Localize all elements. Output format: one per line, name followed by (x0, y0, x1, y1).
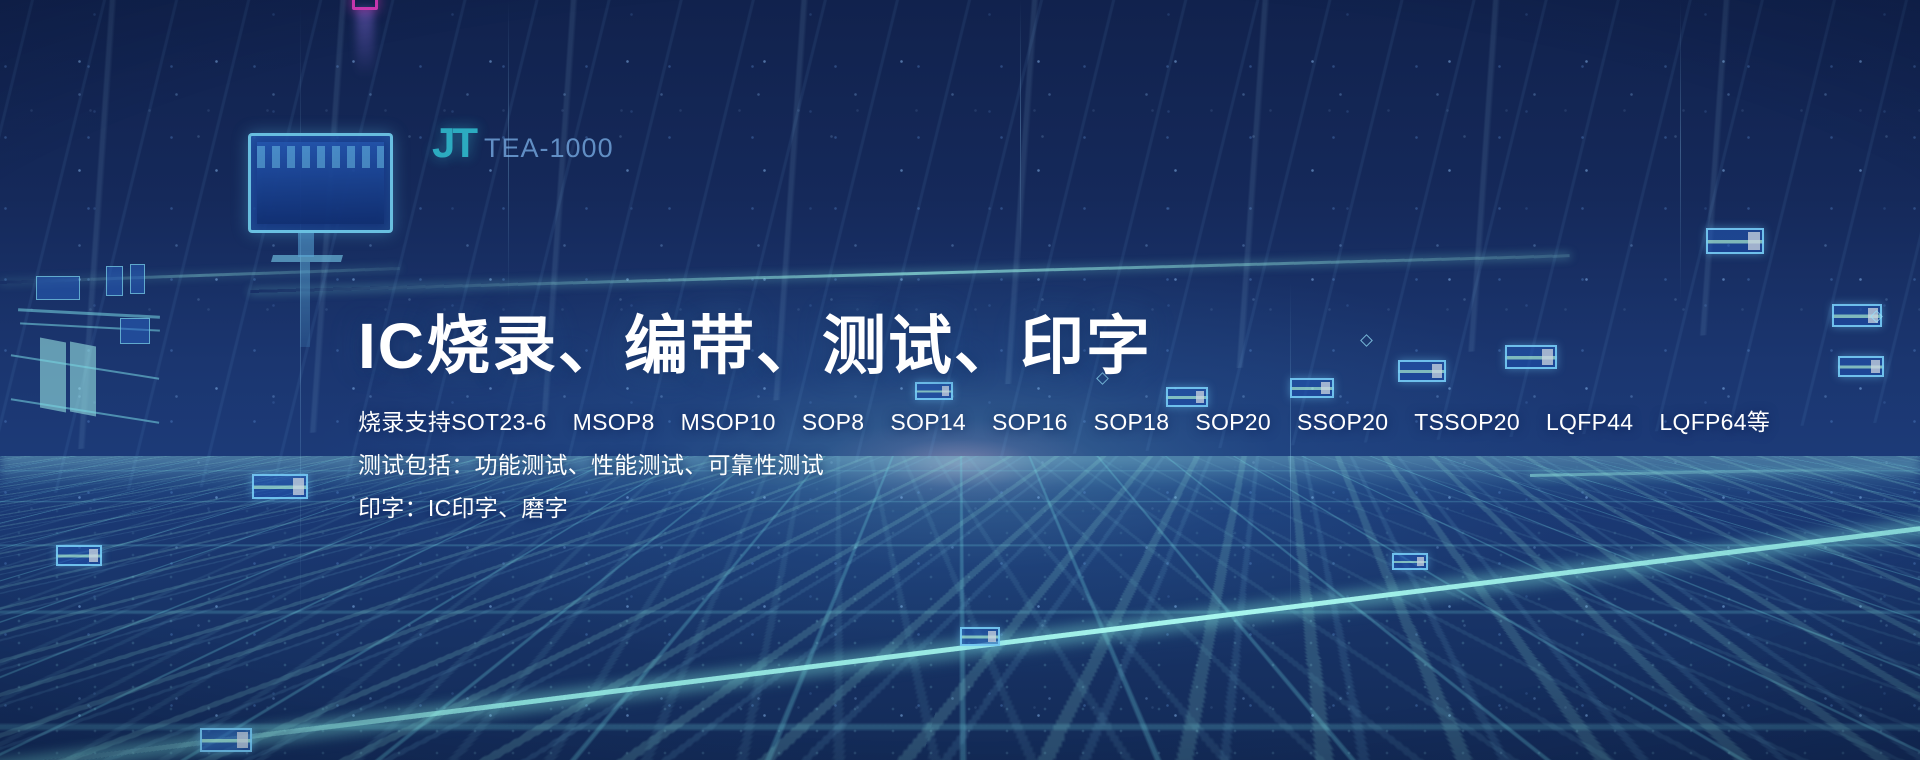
top-marker-glow (356, 8, 374, 76)
monitor-pole (300, 262, 310, 347)
test-scope-line: 测试包括：功能测试、性能测试、可靠性测试 (358, 454, 1758, 477)
structure-post (508, 0, 509, 300)
top-marker-icon (352, 0, 378, 10)
package-list: MSOP8MSOP10SOP8SOP14SOP16SOP18SOP20SSOP2… (573, 409, 1771, 435)
logo-model-text: TEA-1000 (484, 135, 614, 162)
machine-logo: JT TEA-1000 (432, 122, 614, 164)
package-name: LQFP64等 (1659, 411, 1770, 434)
chip-tray-icon (960, 627, 1000, 646)
package-name: SSOP20 (1297, 411, 1388, 434)
rail-beam-main (250, 254, 1570, 293)
structure-post (1680, 0, 1681, 300)
package-name: SOP18 (1094, 411, 1170, 434)
chip-tray-icon (1392, 553, 1428, 570)
logo-mark-text: JT (432, 122, 475, 164)
diagonal-beam-glow (0, 510, 1920, 760)
package-name: SOP16 (992, 411, 1068, 434)
chip-tray-icon (252, 474, 308, 499)
monitor-neck (298, 233, 314, 257)
banner-content: IC烧录、编带、测试、印字 烧录支持SOT23-6MSOP8MSOP10SOP8… (358, 312, 1758, 540)
ic-service-banner: JT TEA-1000 IC烧录、编带、测试、印字 烧录支持SOT23-6MSO… (0, 0, 1920, 760)
marking-scope-line: 印字：IC印字、磨字 (358, 497, 1758, 520)
package-name: SOP20 (1195, 411, 1271, 434)
rail-beam-left (0, 267, 400, 284)
chip-tray-icon (1706, 228, 1764, 254)
chip-tray-icon (1832, 304, 1882, 327)
chip-tray-icon (200, 728, 252, 752)
diagonal-beam (0, 518, 1920, 760)
monitor-screen (257, 142, 384, 224)
package-name: LQFP44 (1546, 411, 1633, 434)
page-title: IC烧录、编带、测试、印字 (358, 312, 1758, 381)
burn-support-label: 烧录支持SOT23-6 (358, 411, 547, 434)
chip-tray-icon (56, 545, 102, 566)
package-name: SOP8 (802, 411, 865, 434)
burn-support-line: 烧录支持SOT23-6MSOP8MSOP10SOP8SOP14SOP16SOP1… (358, 411, 1758, 434)
machinery-illustration (10, 270, 160, 470)
structure-post (1020, 0, 1021, 260)
package-name: SOP14 (890, 411, 966, 434)
chip-tray-icon (1838, 356, 1884, 377)
subtitle-block: 烧录支持SOT23-6MSOP8MSOP10SOP8SOP14SOP16SOP1… (358, 411, 1758, 520)
package-name: MSOP10 (681, 411, 776, 434)
package-name: MSOP8 (573, 411, 655, 434)
monitor-icon (248, 133, 393, 233)
package-name: TSSOP20 (1414, 411, 1520, 434)
node-marker-icon (1870, 310, 1883, 323)
